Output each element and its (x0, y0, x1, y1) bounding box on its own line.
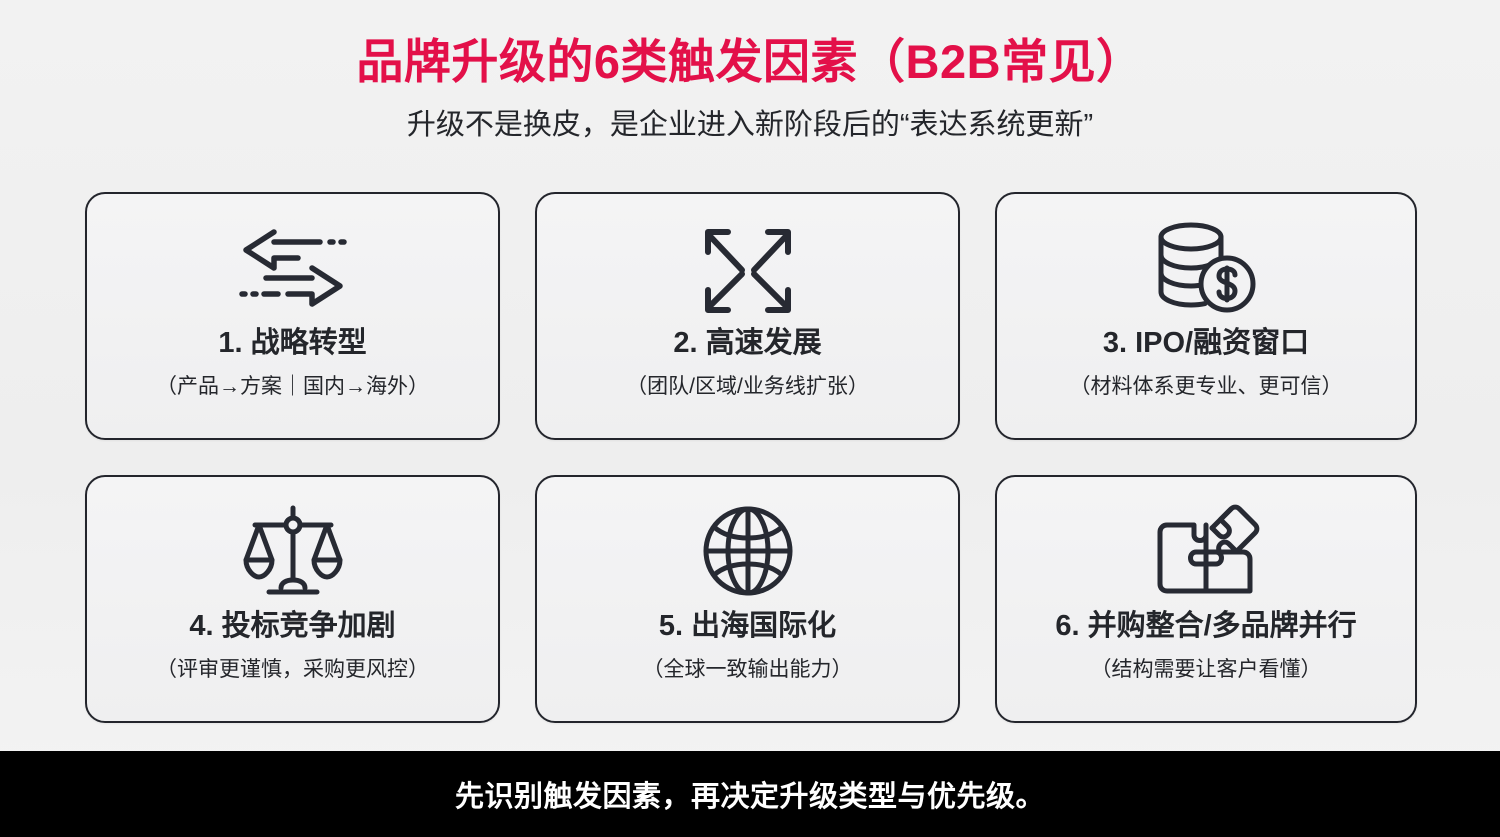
balance-scale-icon (241, 499, 345, 603)
card-globalization[interactable]: 5. 出海国际化 （全球一致输出能力） (535, 475, 960, 723)
card-subtitle: （产品→方案｜国内→海外） (156, 373, 429, 400)
card-merger-multibrand[interactable]: 6. 并购整合/多品牌并行 （结构需要让客户看懂） (995, 475, 1417, 723)
card-title: 3. IPO/融资窗口 (1103, 326, 1309, 361)
globe-icon (700, 499, 796, 603)
card-bidding-competition[interactable]: 4. 投标竞争加剧 （评审更谨慎，采购更风控） (85, 475, 500, 723)
card-ipo-financing[interactable]: 3. IPO/融资窗口 （材料体系更专业、更可信） (995, 192, 1417, 440)
transfer-arrows-icon (234, 216, 352, 320)
card-subtitle: （评审更谨慎，采购更风控） (156, 656, 429, 683)
card-subtitle: （结构需要让客户看懂） (1091, 656, 1322, 683)
expand-arrows-icon (698, 216, 798, 320)
card-subtitle: （材料体系更专业、更可信） (1070, 373, 1343, 400)
card-strategy-transformation[interactable]: 1. 战略转型 （产品→方案｜国内→海外） (85, 192, 500, 440)
card-title: 5. 出海国际化 (659, 609, 836, 644)
card-rapid-growth[interactable]: 2. 高速发展 （团队/区域/业务线扩张） (535, 192, 960, 440)
coin-stack-dollar-icon (1151, 216, 1261, 320)
card-title: 4. 投标竞争加剧 (189, 609, 395, 644)
page-title: 品牌升级的6类触发因素（B2B常见） (0, 34, 1500, 89)
card-subtitle: （全球一致输出能力） (643, 656, 853, 683)
footer-text: 先识别触发因素，再决定升级类型与优先级。 (455, 773, 1045, 815)
card-title: 2. 高速发展 (673, 326, 821, 361)
card-title: 6. 并购整合/多品牌并行 (1055, 609, 1356, 644)
puzzle-pieces-icon (1150, 499, 1262, 603)
footer-bar: 先识别触发因素，再决定升级类型与优先级。 (0, 751, 1500, 837)
card-grid: 1. 战略转型 （产品→方案｜国内→海外） 2. 高速发展 （团队/区域/业务线… (85, 192, 1417, 723)
card-subtitle: （团队/区域/业务线扩张） (626, 373, 869, 400)
header: 品牌升级的6类触发因素（B2B常见） 升级不是换皮，是企业进入新阶段后的“表达系… (0, 0, 1500, 145)
card-title: 1. 战略转型 (218, 326, 366, 361)
infographic-page: 品牌升级的6类触发因素（B2B常见） 升级不是换皮，是企业进入新阶段后的“表达系… (0, 0, 1500, 837)
page-subtitle: 升级不是换皮，是企业进入新阶段后的“表达系统更新” (0, 107, 1500, 145)
